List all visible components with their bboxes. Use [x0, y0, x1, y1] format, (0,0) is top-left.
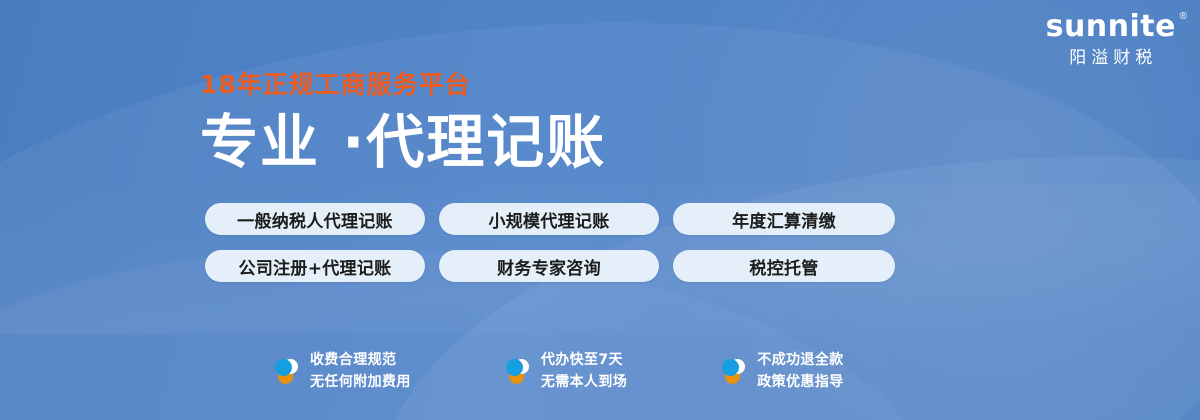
feature-line-2: 无任何附加费用: [310, 374, 411, 390]
brand-logo[interactable]: sunnite ® 阳溢财税: [1046, 12, 1176, 66]
drop-circle-icon: [506, 358, 530, 385]
feature-item-speed: 代办快至7天 无需本人到场: [506, 350, 627, 393]
feature-line-2: 无需本人到场: [541, 374, 627, 390]
logo-chinese-name: 阳溢财税: [1046, 49, 1176, 66]
drop-circle-icon: [722, 358, 746, 385]
feature-line-1: 代办快至7天: [541, 352, 623, 368]
eyebrow-text: 18年正规工商服务平台: [200, 72, 606, 97]
logo-wordmark: sunnite: [1046, 12, 1176, 42]
page-title: 专业 ·代理记账: [200, 111, 606, 174]
feature-strip: 收费合理规范 无任何附加费用 代办快至7天 无需本人到场 不成功退全款 政策优惠…: [275, 350, 844, 393]
service-pill-small-scale-bookkeeping[interactable]: 小规模代理记账: [439, 203, 659, 235]
feature-text-pricing: 收费合理规范 无任何附加费用: [310, 350, 411, 393]
feature-text-guarantee: 不成功退全款 政策优惠指导: [757, 350, 843, 393]
feature-line-1: 收费合理规范: [310, 352, 396, 368]
service-pill-annual-tax-settlement[interactable]: 年度汇算清缴: [673, 203, 895, 235]
promo-banner: sunnite ® 阳溢财税 18年正规工商服务平台 专业 ·代理记账 一般纳税…: [0, 0, 1200, 420]
feature-line-1: 不成功退全款: [757, 352, 843, 368]
drop-circle-icon: [275, 358, 299, 385]
service-pill-general-taxpayer-bookkeeping[interactable]: 一般纳税人代理记账: [205, 203, 425, 235]
feature-line-2: 政策优惠指导: [757, 374, 843, 390]
service-pill-company-registration-bookkeeping[interactable]: 公司注册+代理记账: [205, 250, 425, 282]
service-pill-grid: 一般纳税人代理记账 小规模代理记账 年度汇算清缴 公司注册+代理记账 财务专家咨…: [205, 203, 895, 282]
feature-text-speed: 代办快至7天 无需本人到场: [541, 350, 627, 393]
feature-item-pricing: 收费合理规范 无任何附加费用: [275, 350, 411, 393]
registered-trademark-icon: ®: [1180, 12, 1187, 22]
service-pill-tax-control-custody[interactable]: 税控托管: [673, 250, 895, 282]
service-pill-financial-expert-consulting[interactable]: 财务专家咨询: [439, 250, 659, 282]
feature-item-guarantee: 不成功退全款 政策优惠指导: [722, 350, 843, 393]
headline-block: 18年正规工商服务平台 专业 ·代理记账: [200, 72, 606, 174]
